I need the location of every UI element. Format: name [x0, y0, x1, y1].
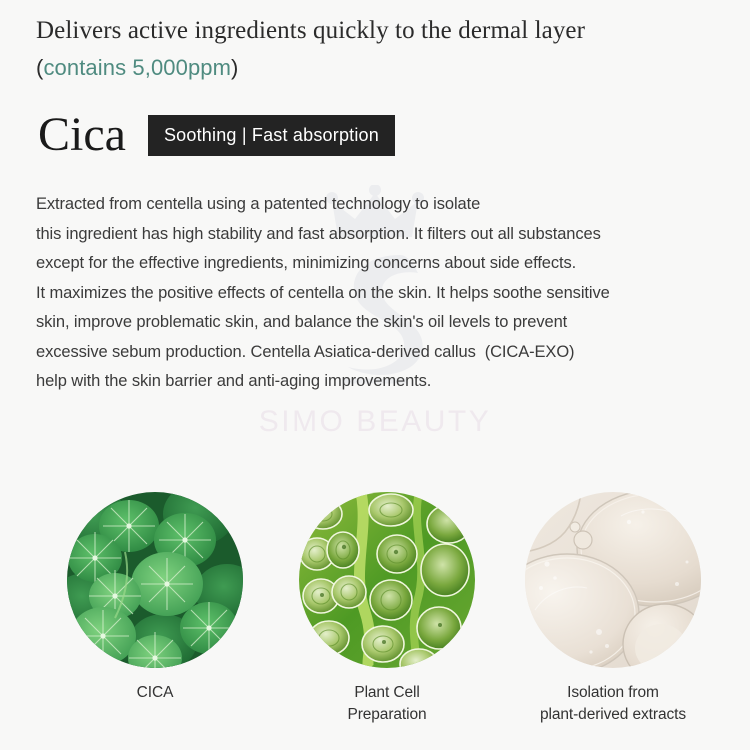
product-description: Extracted from centella using a patented… — [36, 190, 736, 397]
description-line: this ingredient has high stability and f… — [36, 220, 736, 250]
caption-line-2: Preparation — [287, 704, 487, 726]
caption-line-1: Plant Cell — [287, 682, 487, 704]
product-title-row: Cica Soothing | Fast absorption — [38, 110, 395, 160]
headline-line-2: (contains 5,000ppm) — [36, 55, 238, 80]
process-step-isolation: Isolation from plant-derived extracts — [513, 470, 713, 726]
caption-line-1: Isolation from — [513, 682, 713, 704]
caption-line-1: CICA — [55, 682, 255, 704]
step-caption: Isolation from plant-derived extracts — [513, 682, 713, 726]
plant-cell-microscopy-photo — [299, 492, 475, 668]
description-line: skin, improve problematic skin, and bala… — [36, 308, 736, 338]
description-line: It maximizes the positive effects of cen… — [36, 279, 736, 309]
step-caption: CICA — [55, 682, 255, 704]
serum-gel-texture-photo — [525, 492, 701, 668]
page-headline: Delivers active ingredients quickly to t… — [36, 12, 726, 86]
process-diagram: CICA — [0, 470, 750, 750]
description-line: Extracted from centella using a patented… — [36, 190, 736, 220]
description-line: except for the effective ingredients, mi… — [36, 249, 736, 279]
caption-line-2: plant-derived extracts — [513, 704, 713, 726]
product-benefit-badge: Soothing | Fast absorption — [148, 115, 395, 156]
ppm-highlight: contains 5,000ppm — [43, 55, 231, 80]
description-line: excessive sebum production. Centella Asi… — [36, 338, 736, 368]
brand-text-watermark: SIMO BEAUTY — [0, 405, 750, 439]
paren-close: ) — [231, 55, 238, 80]
centella-leaves-photo — [67, 492, 243, 668]
product-title: Cica — [38, 110, 126, 160]
description-line: help with the skin barrier and anti-agin… — [36, 367, 736, 397]
process-step-cica: CICA — [55, 470, 255, 704]
process-step-plant-cell: Plant Cell Preparation — [287, 470, 487, 726]
step-caption: Plant Cell Preparation — [287, 682, 487, 726]
product-detail-page: SIMO BEAUTY Delivers active ingredients … — [0, 0, 750, 750]
headline-line-1: Delivers active ingredients quickly to t… — [36, 17, 585, 44]
